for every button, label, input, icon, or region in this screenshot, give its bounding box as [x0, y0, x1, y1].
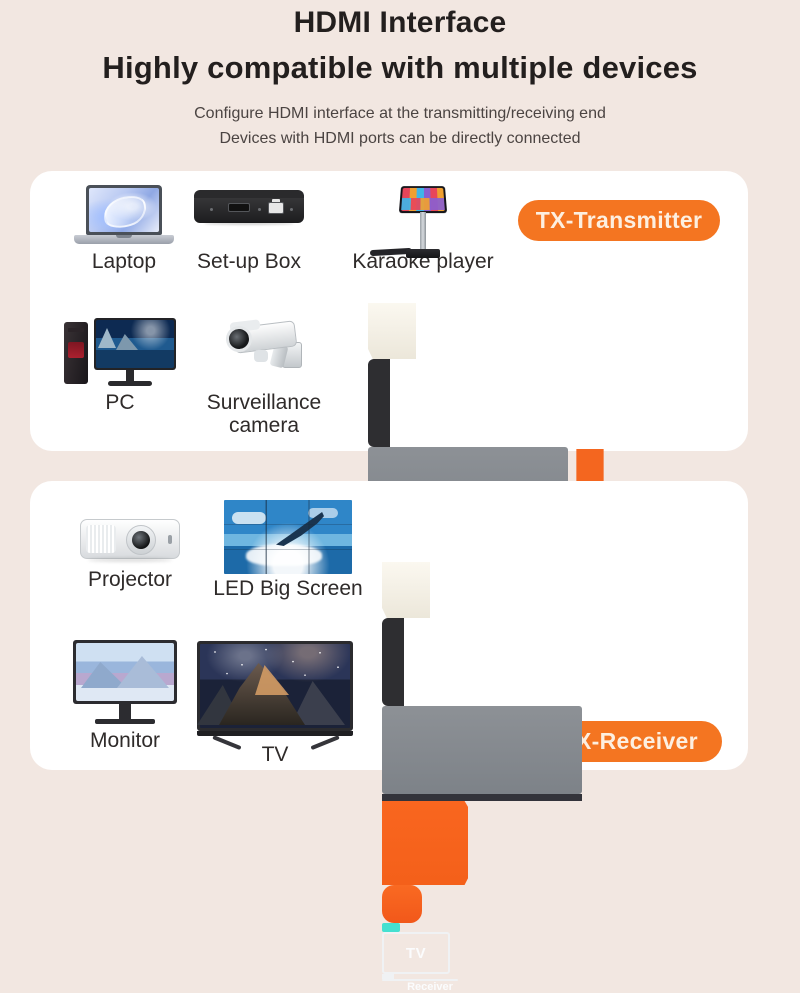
device-cell-laptop[interactable]: Laptop [70, 185, 178, 274]
device-cell-tv[interactable]: TV [196, 641, 354, 767]
rx-dongle[interactable]: TV Receiver [382, 562, 712, 672]
set-top-box-icon [194, 185, 304, 247]
device-label: PC [58, 392, 182, 415]
tv-outline-icon: TV [382, 932, 450, 974]
device-label: Projector [78, 569, 182, 592]
subtitle-line-2: Devices with HDMI ports can be directly … [0, 130, 800, 148]
dongle-collar [368, 359, 390, 447]
device-cell-pc[interactable]: PC [58, 312, 182, 415]
hdmi-plug-icon [368, 303, 416, 359]
device-cell-karaoke-player[interactable]: Karaoke player [333, 185, 513, 274]
device-label: Laptop [70, 251, 178, 274]
title-line-2: Highly compatible with multiple devices [0, 50, 800, 86]
device-label: TV [196, 744, 354, 767]
tx-dongle[interactable]: PC Transmitter [368, 303, 698, 413]
device-cell-projector[interactable]: Projector [78, 505, 182, 592]
projector-icon [80, 505, 180, 565]
hdmi-plug-icon [382, 562, 430, 618]
desktop-pc-icon [64, 312, 176, 388]
device-label: Surveillance camera [190, 392, 338, 437]
dongle-role-label: Receiver [382, 981, 478, 993]
device-label: Set-up Box [188, 251, 310, 274]
dongle-collar [382, 618, 404, 706]
device-cell-set-up-box[interactable]: Set-up Box [188, 185, 310, 274]
karaoke-player-icon [370, 185, 476, 247]
subtitle-line-1: Configure HDMI interface at the transmit… [0, 105, 800, 123]
monitor-icon [73, 640, 177, 726]
status-led [382, 923, 400, 932]
device-label: LED Big Screen [205, 578, 371, 601]
surveillance-camera-icon [216, 312, 312, 388]
device-cell-monitor[interactable]: Monitor [72, 640, 178, 753]
device-cell-led-big-screen[interactable]: LED Big Screen [205, 500, 371, 601]
device-label: Monitor [72, 730, 178, 753]
power-button-icon[interactable] [382, 885, 422, 923]
tx-transmitter-badge[interactable]: TX-Transmitter [518, 200, 720, 241]
infographic-page: HDMI Interface Highly compatible with mu… [0, 0, 800, 800]
laptop-icon [74, 185, 174, 247]
dongle-body [382, 706, 582, 794]
television-icon [197, 641, 353, 740]
led-video-wall-icon [224, 500, 352, 574]
dongle-orange-cap [382, 801, 468, 885]
device-cell-surveillance-camera[interactable]: Surveillance camera [190, 312, 338, 437]
title-line-1: HDMI Interface [0, 6, 800, 40]
